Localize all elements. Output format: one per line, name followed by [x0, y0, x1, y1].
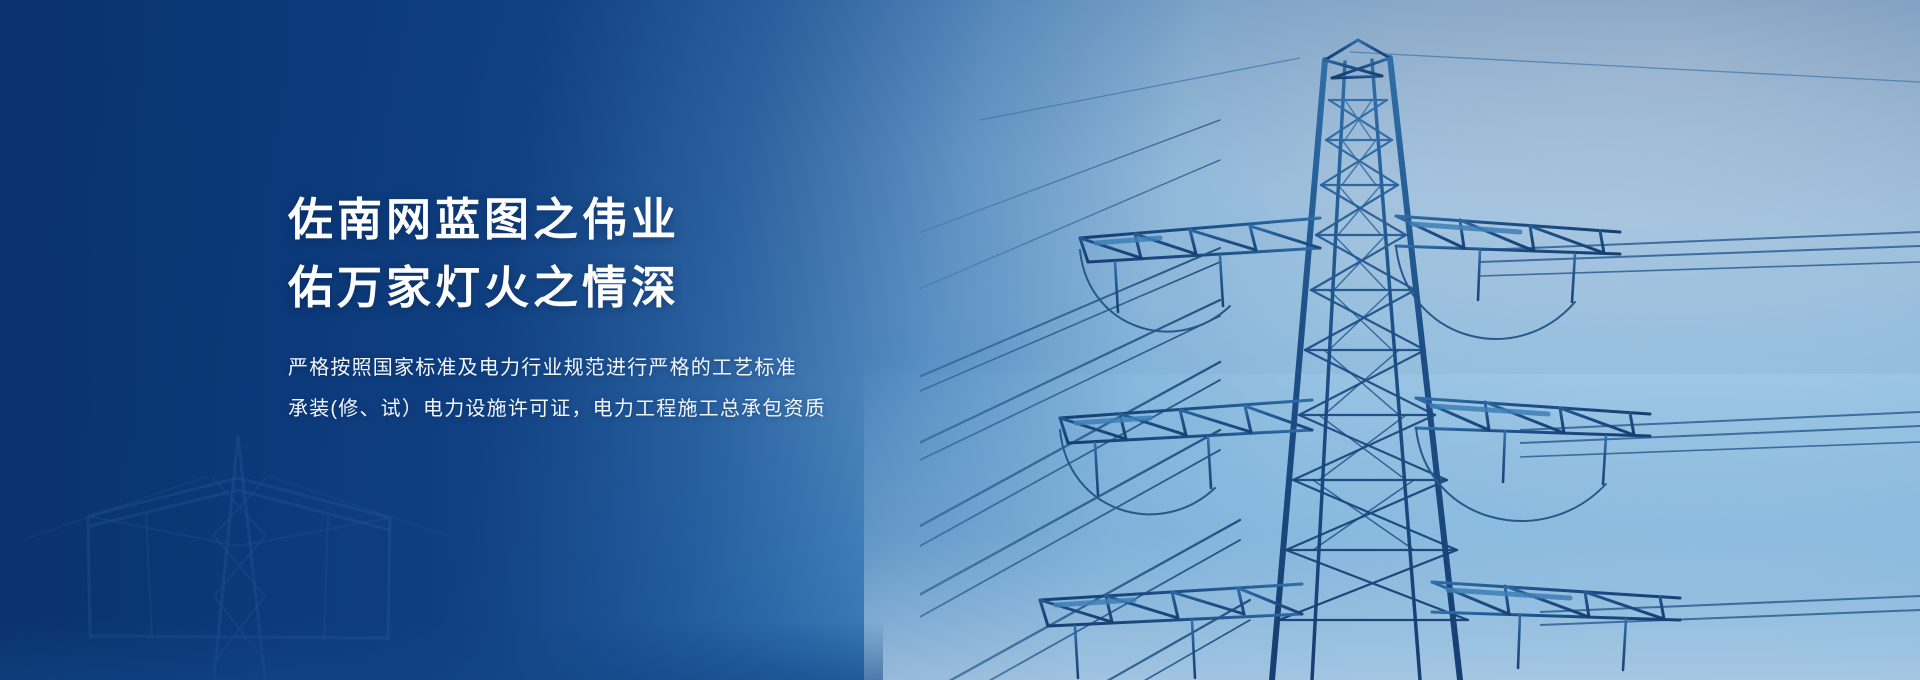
subtitle-line-1: 严格按照国家标准及电力行业规范进行严格的工艺标准	[288, 348, 1048, 389]
conductor-lines-right	[1480, 232, 1920, 625]
ghost-ground-haze	[0, 620, 883, 680]
transmission-tower-photo	[920, 0, 1920, 680]
earth-wires	[980, 52, 1920, 120]
headline-line-1: 佐南网蓝图之伟业	[288, 186, 1048, 254]
hero-text-block: 佐南网蓝图之伟业 佑万家灯火之情深 严格按照国家标准及电力行业规范进行严格的工艺…	[288, 186, 1048, 430]
headline-line-2: 佑万家灯火之情深	[288, 254, 1048, 322]
subtitle-block: 严格按照国家标准及电力行业规范进行严格的工艺标准 承装(修、试）电力设施许可证，…	[288, 348, 1048, 430]
lattice-tower	[1040, 40, 1680, 680]
subtitle-line-2: 承装(修、试）电力设施许可证，电力工程施工总承包资质	[288, 389, 1048, 430]
hero-banner: 佐南网蓝图之伟业 佑万家灯火之情深 严格按照国家标准及电力行业规范进行严格的工艺…	[0, 0, 1920, 680]
